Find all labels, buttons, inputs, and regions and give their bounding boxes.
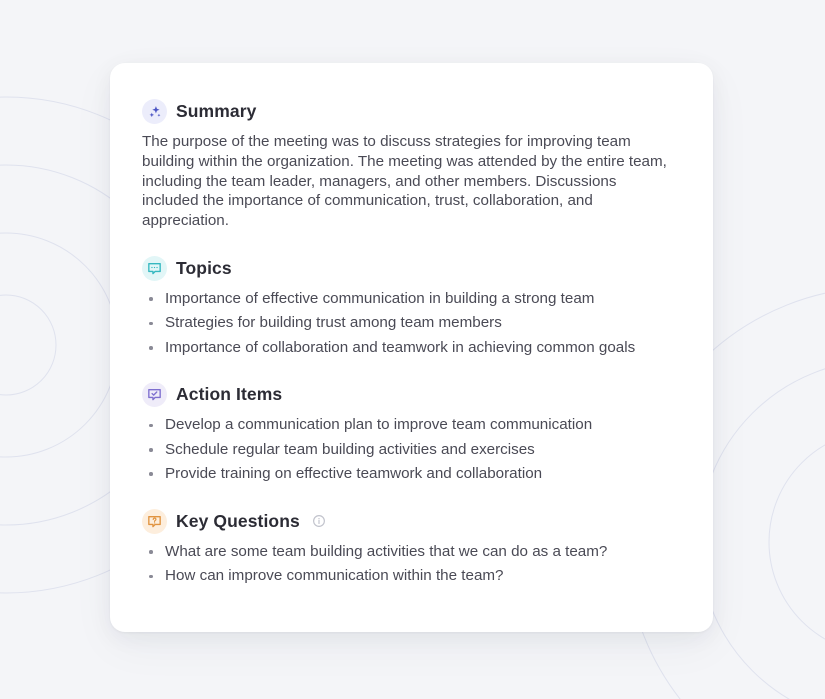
section-action-items-title: Action Items (176, 386, 282, 404)
list-item: How can improve communication within the… (142, 566, 681, 586)
section-summary-header: Summary (142, 99, 681, 124)
decor-circle-left-inner (0, 233, 118, 457)
list-item: Schedule regular team building activitie… (142, 440, 681, 460)
chat-bubble-question-icon (142, 509, 167, 534)
chat-bubble-dots-icon (142, 256, 167, 281)
meeting-summary-card: Summary The purpose of the meeting was t… (110, 63, 713, 632)
list-item: Importance of effective communication in… (142, 289, 681, 309)
section-key-questions-header: Key Questions (142, 509, 681, 534)
sparkle-icon (142, 99, 167, 124)
info-circle-icon[interactable] (312, 514, 326, 528)
section-summary: Summary The purpose of the meeting was t… (142, 99, 681, 231)
section-topics: Topics Importance of effective communica… (142, 256, 681, 357)
summary-paragraph: The purpose of the meeting was to discus… (142, 132, 668, 231)
section-summary-title: Summary (176, 103, 256, 121)
section-key-questions: Key Questions What are some team buildin… (142, 509, 681, 586)
list-item: What are some team building activities t… (142, 542, 681, 562)
section-topics-title: Topics (176, 260, 232, 278)
decor-circle-right-inner (769, 430, 825, 654)
list-item: Provide training on effective teamwork a… (142, 464, 681, 484)
section-action-items: Action Items Develop a communication pla… (142, 382, 681, 483)
action-items-list: Develop a communication plan to improve … (142, 415, 681, 483)
decor-circle-left-core (0, 295, 56, 395)
key-questions-list: What are some team building activities t… (142, 542, 681, 586)
section-key-questions-title: Key Questions (176, 513, 300, 531)
section-action-items-header: Action Items (142, 382, 681, 407)
list-item: Develop a communication plan to improve … (142, 415, 681, 435)
chat-bubble-check-icon (142, 382, 167, 407)
decor-circle-right-mid (699, 360, 825, 699)
list-item: Strategies for building trust among team… (142, 313, 681, 333)
topics-list: Importance of effective communication in… (142, 289, 681, 357)
list-item: Importance of collaboration and teamwork… (142, 338, 681, 358)
section-topics-header: Topics (142, 256, 681, 281)
